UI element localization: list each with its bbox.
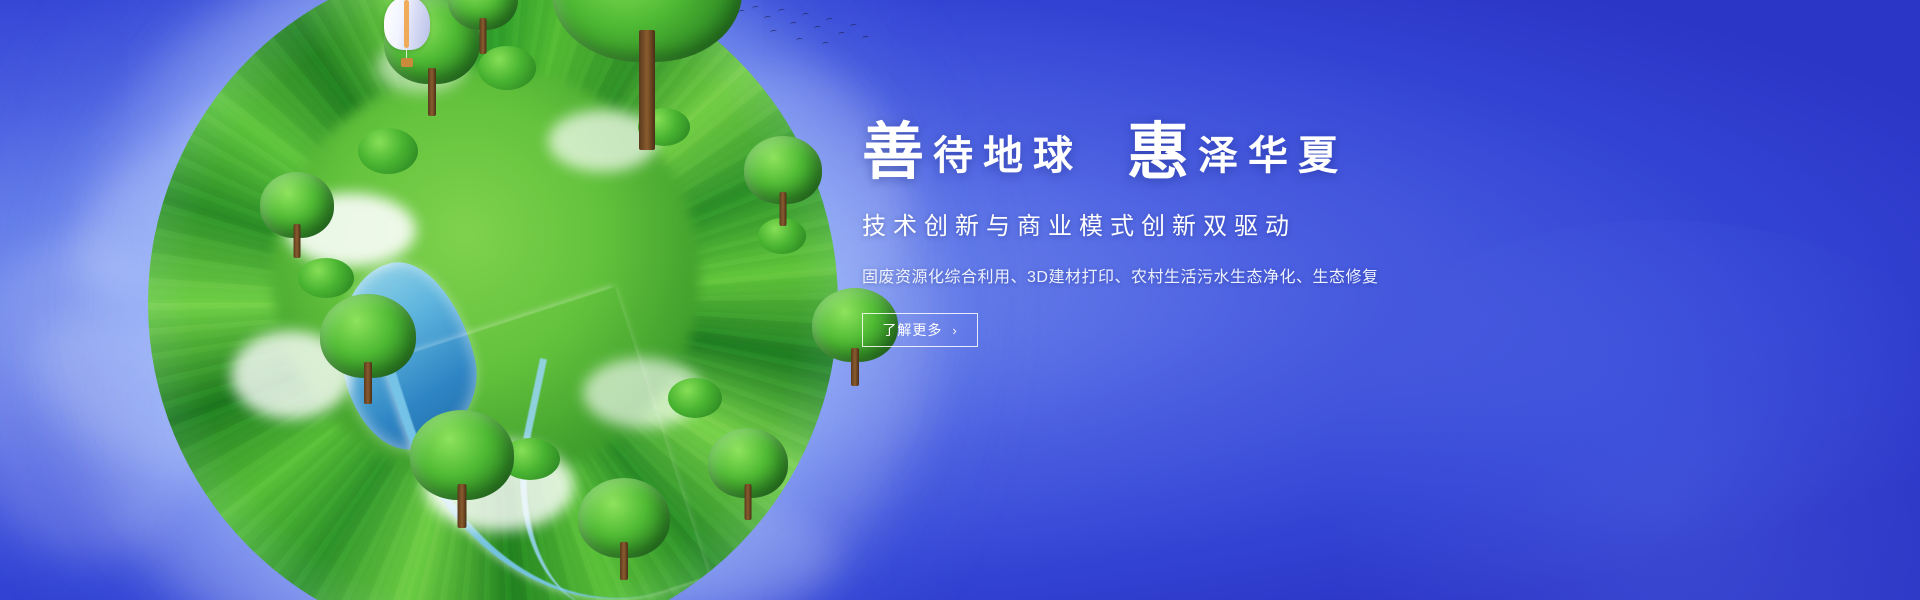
learn-more-label: 了解更多 — [882, 320, 942, 340]
bush — [298, 258, 354, 298]
tree-icon — [320, 294, 416, 402]
description: 固废资源化综合利用、3D建材打印、农村生活污水生态净化、生态修复 — [862, 263, 1562, 287]
headline-part2-large: 惠 — [1127, 122, 1190, 184]
tree-trunk — [639, 30, 655, 150]
tree-icon — [708, 428, 788, 520]
bush — [478, 46, 536, 90]
hot-air-balloon-icon — [384, 0, 430, 74]
headline-part2-small: 泽华夏 — [1198, 136, 1348, 176]
tagline: 技术创新与商业模式创新双驱动 — [862, 206, 1562, 241]
balloon-basket — [401, 58, 413, 67]
tree-icon — [744, 136, 822, 224]
tree-icon — [578, 478, 670, 578]
learn-more-button[interactable]: 了解更多 › — [862, 313, 978, 347]
headline-part1-large: 善 — [862, 122, 925, 184]
bird-flock-icon — [736, 4, 876, 50]
bush — [668, 378, 722, 418]
banner-copy: 善 待地球 惠 泽华夏 技术创新与商业模式创新双驱动 固废资源化综合利用、3D建… — [862, 118, 1562, 347]
little-planet-illustration — [148, 0, 838, 600]
hero-banner: 善 待地球 惠 泽华夏 技术创新与商业模式创新双驱动 固废资源化综合利用、3D建… — [0, 0, 1920, 600]
headline-part1-small: 待地球 — [933, 136, 1083, 176]
page-title: 善 待地球 惠 泽华夏 — [862, 118, 1562, 180]
tree-icon — [552, 0, 742, 92]
bush — [358, 128, 418, 174]
balloon-stripe — [404, 0, 409, 48]
chevron-right-icon: › — [952, 324, 957, 337]
tree-icon — [410, 410, 514, 526]
tree-icon — [448, 0, 518, 52]
tree-icon — [260, 172, 334, 258]
